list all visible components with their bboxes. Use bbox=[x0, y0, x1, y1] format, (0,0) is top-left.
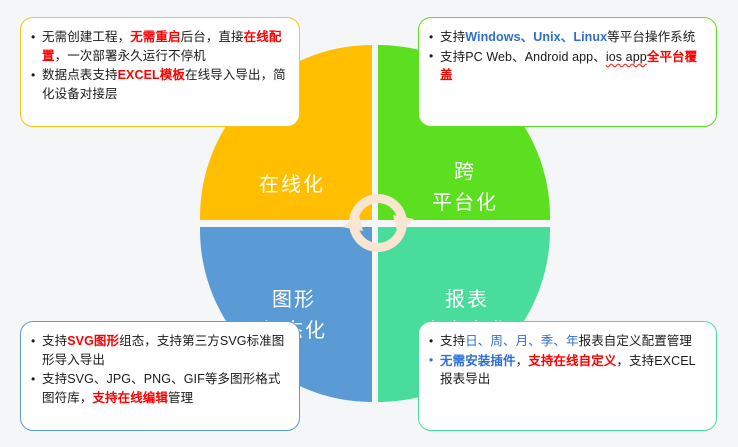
list-item: 支持SVG、JPG、PNG、GIF等多图形格式图符库，支持在线编辑管理 bbox=[31, 370, 287, 407]
text-run: ， bbox=[516, 354, 529, 368]
card-reports-features: 支持日、周、月、季、年报表自定义配置管理 无需安装插件，支持在线自定义，支持EX… bbox=[418, 321, 717, 431]
card-online-features: 无需创建工程，无需重启后台，直接在线配置，一次部署永久运行不停机 数据点表支持E… bbox=[20, 17, 300, 127]
text-run: 支持 bbox=[440, 334, 465, 348]
list-item: 支持Windows、Unix、Linux等平台操作系统 bbox=[429, 28, 704, 47]
list-item: 无需安装插件，支持在线自定义，支持EXCEL报表导出 bbox=[429, 352, 704, 389]
text-run: 报表自定义配置管理 bbox=[579, 334, 692, 348]
text-run: 后台，直接 bbox=[181, 30, 244, 44]
text-run: 支持PC Web、Android app、 bbox=[440, 50, 606, 64]
text-run: 管理 bbox=[168, 391, 193, 405]
list-item: 支持日、周、月、季、年报表自定义配置管理 bbox=[429, 332, 704, 351]
card-cross-platform-bullet-list: 支持Windows、Unix、Linux等平台操作系统 支持PC Web、And… bbox=[429, 28, 704, 85]
text-run: 支持 bbox=[440, 30, 465, 44]
text-run: 支持在线自定义 bbox=[528, 354, 616, 368]
list-item: 支持PC Web、Android app、ios app全平台覆盖 bbox=[429, 48, 704, 85]
text-run: ，一次部署永久运行不停机 bbox=[55, 49, 206, 63]
text-run: 无需安装插件 bbox=[440, 354, 516, 368]
text-run: SVG图形 bbox=[67, 334, 119, 348]
text-run: EXCEL模板 bbox=[118, 68, 185, 82]
card-graphics-bullet-list: 支持SVG图形组态，支持第三方SVG标准图形导入导出 支持SVG、JPG、PNG… bbox=[31, 332, 287, 407]
text-run: 日、周、月、季、年 bbox=[465, 334, 578, 348]
text-run: 支持 bbox=[42, 334, 67, 348]
list-item: 无需创建工程，无需重启后台，直接在线配置，一次部署永久运行不停机 bbox=[31, 28, 287, 65]
list-item: 支持SVG图形组态，支持第三方SVG标准图形导入导出 bbox=[31, 332, 287, 369]
card-cross-platform-features: 支持Windows、Unix、Linux等平台操作系统 支持PC Web、And… bbox=[418, 17, 717, 127]
card-reports-bullet-list: 支持日、周、月、季、年报表自定义配置管理 无需安装插件，支持在线自定义，支持EX… bbox=[429, 332, 704, 389]
text-run: 无需创建工程， bbox=[42, 30, 130, 44]
text-run: ios app bbox=[606, 50, 647, 64]
list-item: 数据点表支持EXCEL模板在线导入导出，简化设备对接层 bbox=[31, 66, 287, 103]
text-run: 无需重启 bbox=[130, 30, 180, 44]
text-run: Windows、Unix、Linux bbox=[465, 30, 607, 44]
infographic-canvas: 在线化 跨 平台化 图形 组态化 报表 自定义化 无需创建工程，无需重启后台，直… bbox=[0, 0, 738, 447]
circular-refresh-arrows-icon bbox=[341, 186, 415, 260]
card-graphics-features: 支持SVG图形组态，支持第三方SVG标准图形导入导出 支持SVG、JPG、PNG… bbox=[20, 321, 300, 431]
text-run: 等平台操作系统 bbox=[607, 30, 695, 44]
card-online-bullet-list: 无需创建工程，无需重启后台，直接在线配置，一次部署永久运行不停机 数据点表支持E… bbox=[31, 28, 287, 103]
text-run: 数据点表支持 bbox=[42, 68, 118, 82]
text-run: 支持在线编辑 bbox=[92, 391, 168, 405]
